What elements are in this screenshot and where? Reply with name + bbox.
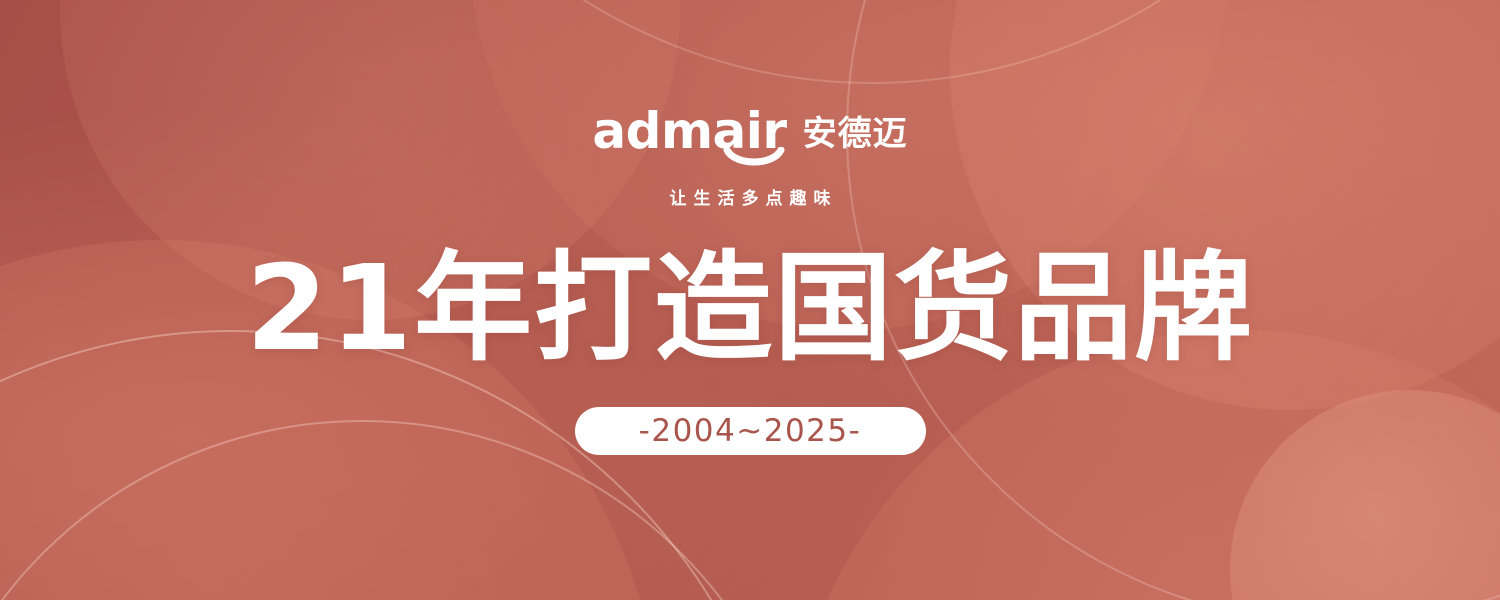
banner-content: admair 安德迈 让生活多点趣味 21年打造国货品牌 -2004~2025- bbox=[0, 0, 1500, 600]
year-range-badge-text: -2004~2025- bbox=[639, 416, 862, 447]
logo-cn-brand: 安德迈 bbox=[803, 117, 908, 154]
brand-tagline: 让生活多点趣味 bbox=[663, 184, 838, 209]
headline: 21年打造国货品牌 bbox=[246, 249, 1254, 367]
logo-wordmark: admair bbox=[592, 108, 786, 154]
smile-curve-icon bbox=[723, 147, 785, 169]
brand-logo: admair 安德迈 bbox=[592, 108, 907, 154]
year-range-badge: -2004~2025- bbox=[575, 407, 926, 455]
brand-banner: admair 安德迈 让生活多点趣味 21年打造国货品牌 -2004~2025- bbox=[0, 0, 1500, 600]
